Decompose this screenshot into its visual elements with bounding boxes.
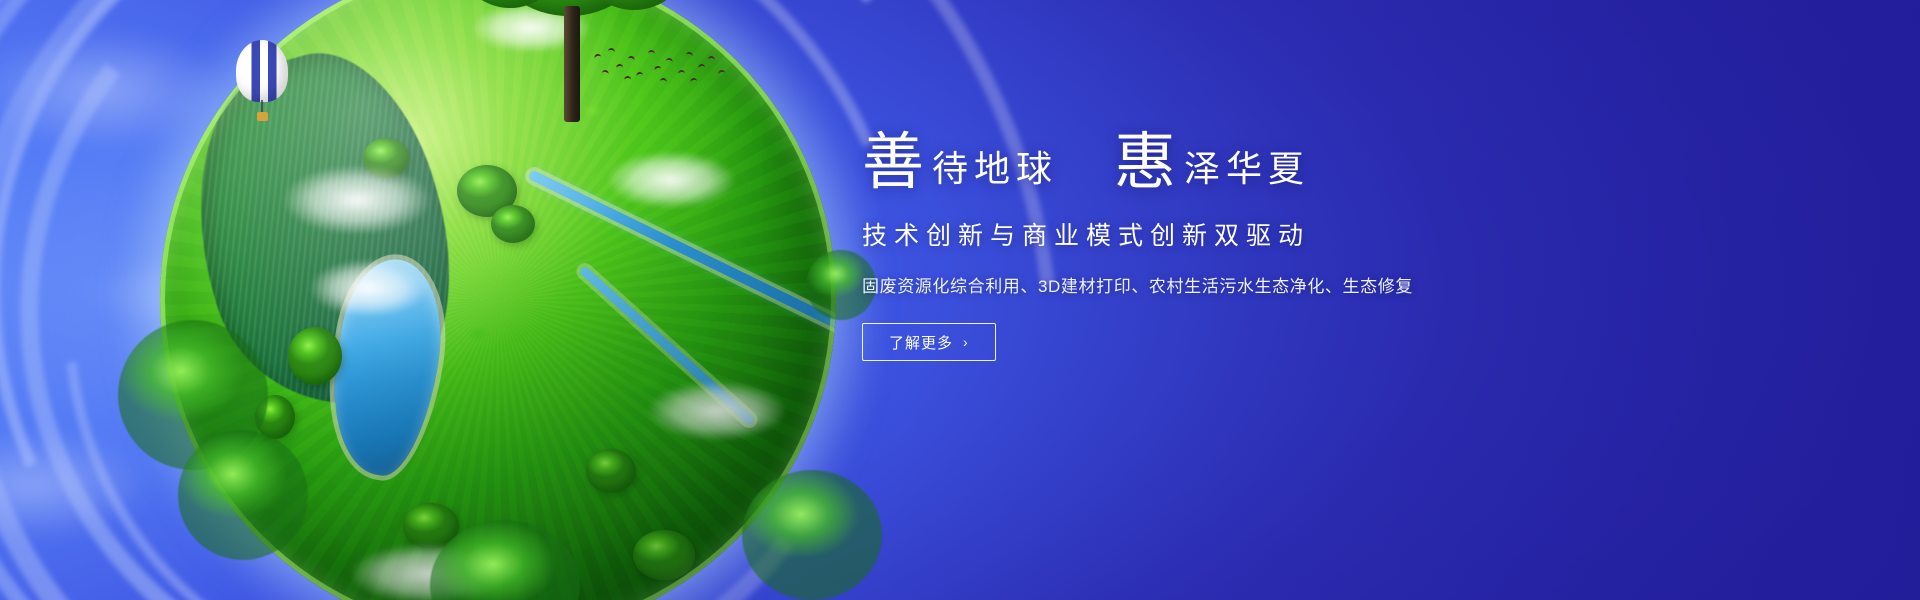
learn-more-label: 了解更多 bbox=[889, 332, 953, 353]
hero-subtitle: 技术创新与商业模式创新双驱动 bbox=[862, 216, 1502, 252]
hero-description: 固废资源化综合利用、3D建材打印、农村生活污水生态净化、生态修复 bbox=[862, 272, 1502, 297]
bird-flock-icon bbox=[590, 44, 730, 96]
headline-part-1: 待地球 bbox=[932, 151, 1058, 194]
headline-char-2: 惠 bbox=[1114, 132, 1176, 194]
headline-char-1: 善 bbox=[862, 132, 924, 194]
hot-air-balloon-icon bbox=[236, 40, 288, 128]
learn-more-button[interactable]: 了解更多 › bbox=[862, 323, 996, 361]
page-title: 善 待地球 惠 泽华夏 bbox=[862, 132, 1502, 194]
horizon-tree-right bbox=[742, 470, 882, 600]
chevron-right-icon: › bbox=[963, 334, 969, 350]
horizon-tree-bottom-left bbox=[178, 430, 308, 560]
hero-copy: 善 待地球 惠 泽华夏 技术创新与商业模式创新双驱动 固废资源化综合利用、3D建… bbox=[862, 132, 1502, 361]
headline-part-2: 泽华夏 bbox=[1184, 151, 1310, 194]
hero-banner: 善 待地球 惠 泽华夏 技术创新与商业模式创新双驱动 固废资源化综合利用、3D建… bbox=[0, 0, 1920, 600]
